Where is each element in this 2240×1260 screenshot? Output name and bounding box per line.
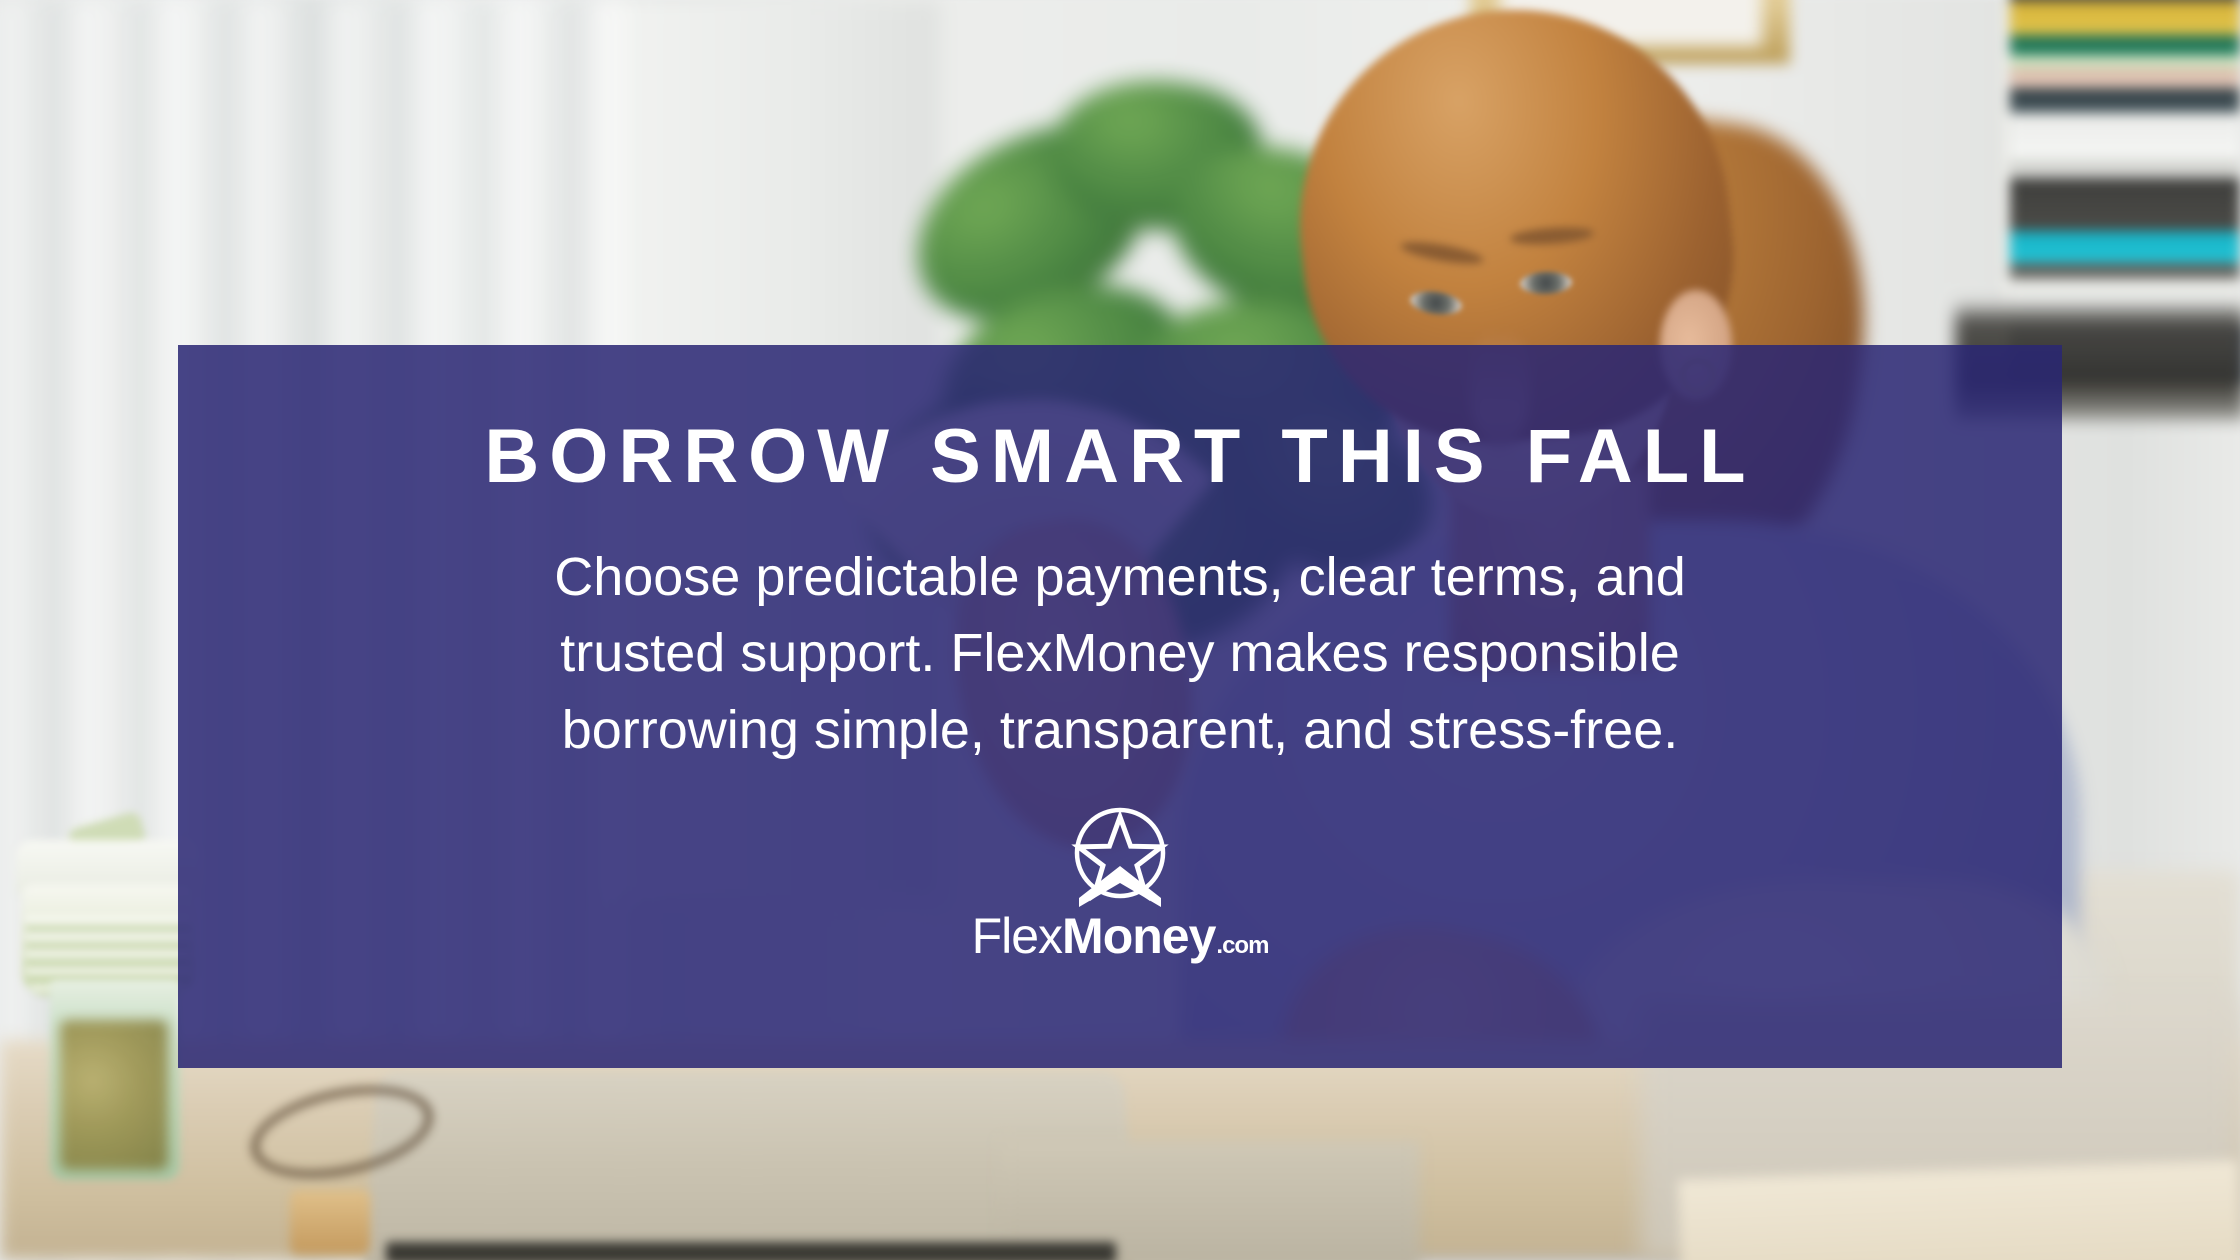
overlay-panel: BORROW SMART THIS FALL Choose predictabl… xyxy=(178,345,2062,1068)
subcopy-block: Choose predictable payments, clear terms… xyxy=(554,497,1686,769)
brand-money: Money xyxy=(1062,911,1215,961)
page-title: BORROW SMART THIS FALL xyxy=(484,345,1755,497)
flexmoney-wordmark: FlexMoney.com xyxy=(972,911,1269,961)
desk-trinket xyxy=(290,1190,370,1254)
subcopy-line-1: Choose predictable payments, clear terms… xyxy=(554,539,1686,616)
laptop-base xyxy=(386,1242,1116,1260)
star-in-circle-icon xyxy=(1060,803,1180,907)
marketing-banner: BORROW SMART THIS FALL Choose predictabl… xyxy=(0,0,2240,1260)
brand-flex: Flex xyxy=(972,911,1062,961)
flexmoney-logo[interactable]: FlexMoney.com xyxy=(972,803,1269,961)
subcopy-line-2: trusted support. FlexMoney makes respons… xyxy=(554,615,1686,692)
subcopy-line-3: borrowing simple, transparent, and stres… xyxy=(554,692,1686,769)
glass-jar-contents xyxy=(60,1020,168,1170)
brand-tld: .com xyxy=(1216,934,1268,958)
